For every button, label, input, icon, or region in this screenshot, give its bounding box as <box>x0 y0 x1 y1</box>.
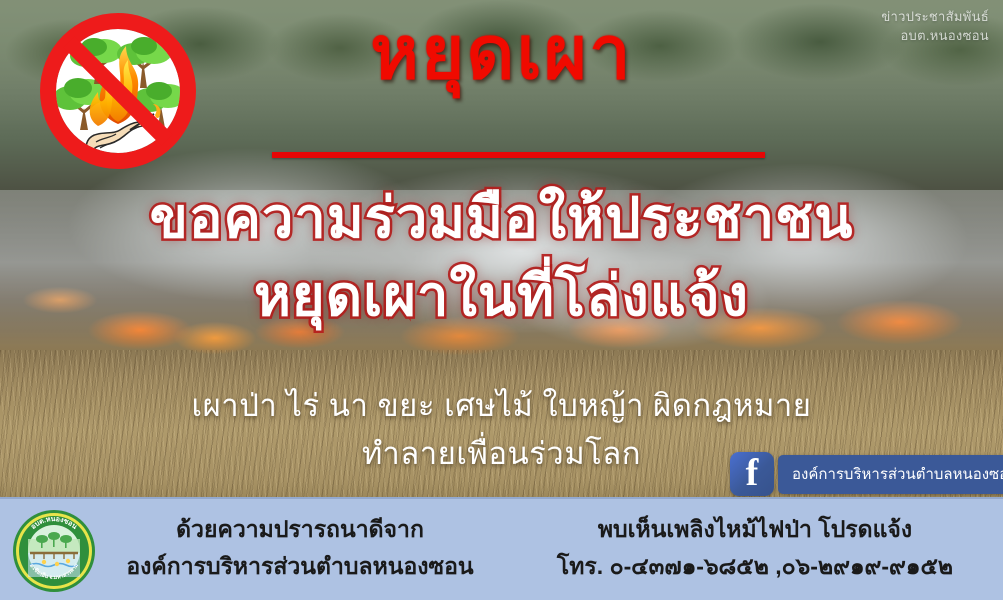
footer-left-text: ด้วยความปรารถนาดีจาก องค์การบริหารส่วนตำ… <box>100 511 500 586</box>
footer-left-line-1: ด้วยความปรารถนาดีจาก <box>100 511 500 548</box>
footer-left-line-2: องค์การบริหารส่วนตำบลหนองซอน <box>100 548 500 585</box>
footer-phone-numbers: โทร. ๐-๔๓๗๑-๖๘๕๒ ,๐๖-๒๙๑๙-๙๑๕๒ <box>520 548 990 585</box>
organization-seal: อบต.หนองซอน อ.เชียงยืน จ.มหาสารคาม <box>12 509 96 593</box>
footer-right-text: พบเห็นเพลิงไหม้ไฟป่า โปรดแจ้ง โทร. ๐-๔๓๗… <box>520 511 990 586</box>
main-message-block: ขอความร่วมมือให้ประชาชน หยุดเผาในที่โล่ง… <box>0 182 1003 331</box>
main-message-line-2: หยุดเผาในที่โล่งแจ้ง <box>0 260 1003 332</box>
poster-root: ข่าวประชาสัมพันธ์ อบต.หนองซอน หยุดเผา ขอ… <box>0 0 1003 600</box>
red-divider-line <box>272 152 765 158</box>
footer-bar: อบต.หนองซอน อ.เชียงยืน จ.มหาสารคาม ด้วยค… <box>0 497 1003 600</box>
headline: หยุดเผา <box>0 14 1003 92</box>
facebook-page-name[interactable]: องค์การบริหารส่วนตำบลหนองซอน <box>778 455 1003 494</box>
footer-right-line-1: พบเห็นเพลิงไหม้ไฟป่า โปรดแจ้ง <box>520 511 990 548</box>
main-message-line-1: ขอความร่วมมือให้ประชาชน <box>0 182 1003 254</box>
facebook-icon[interactable] <box>730 452 774 496</box>
facebook-badge[interactable]: องค์การบริหารส่วนตำบลหนองซอน <box>730 452 1003 496</box>
sub-message-line-1: เผาป่า ไร่ นา ขยะ เศษไม้ ใบหญ้า ผิดกฎหมา… <box>0 382 1003 430</box>
